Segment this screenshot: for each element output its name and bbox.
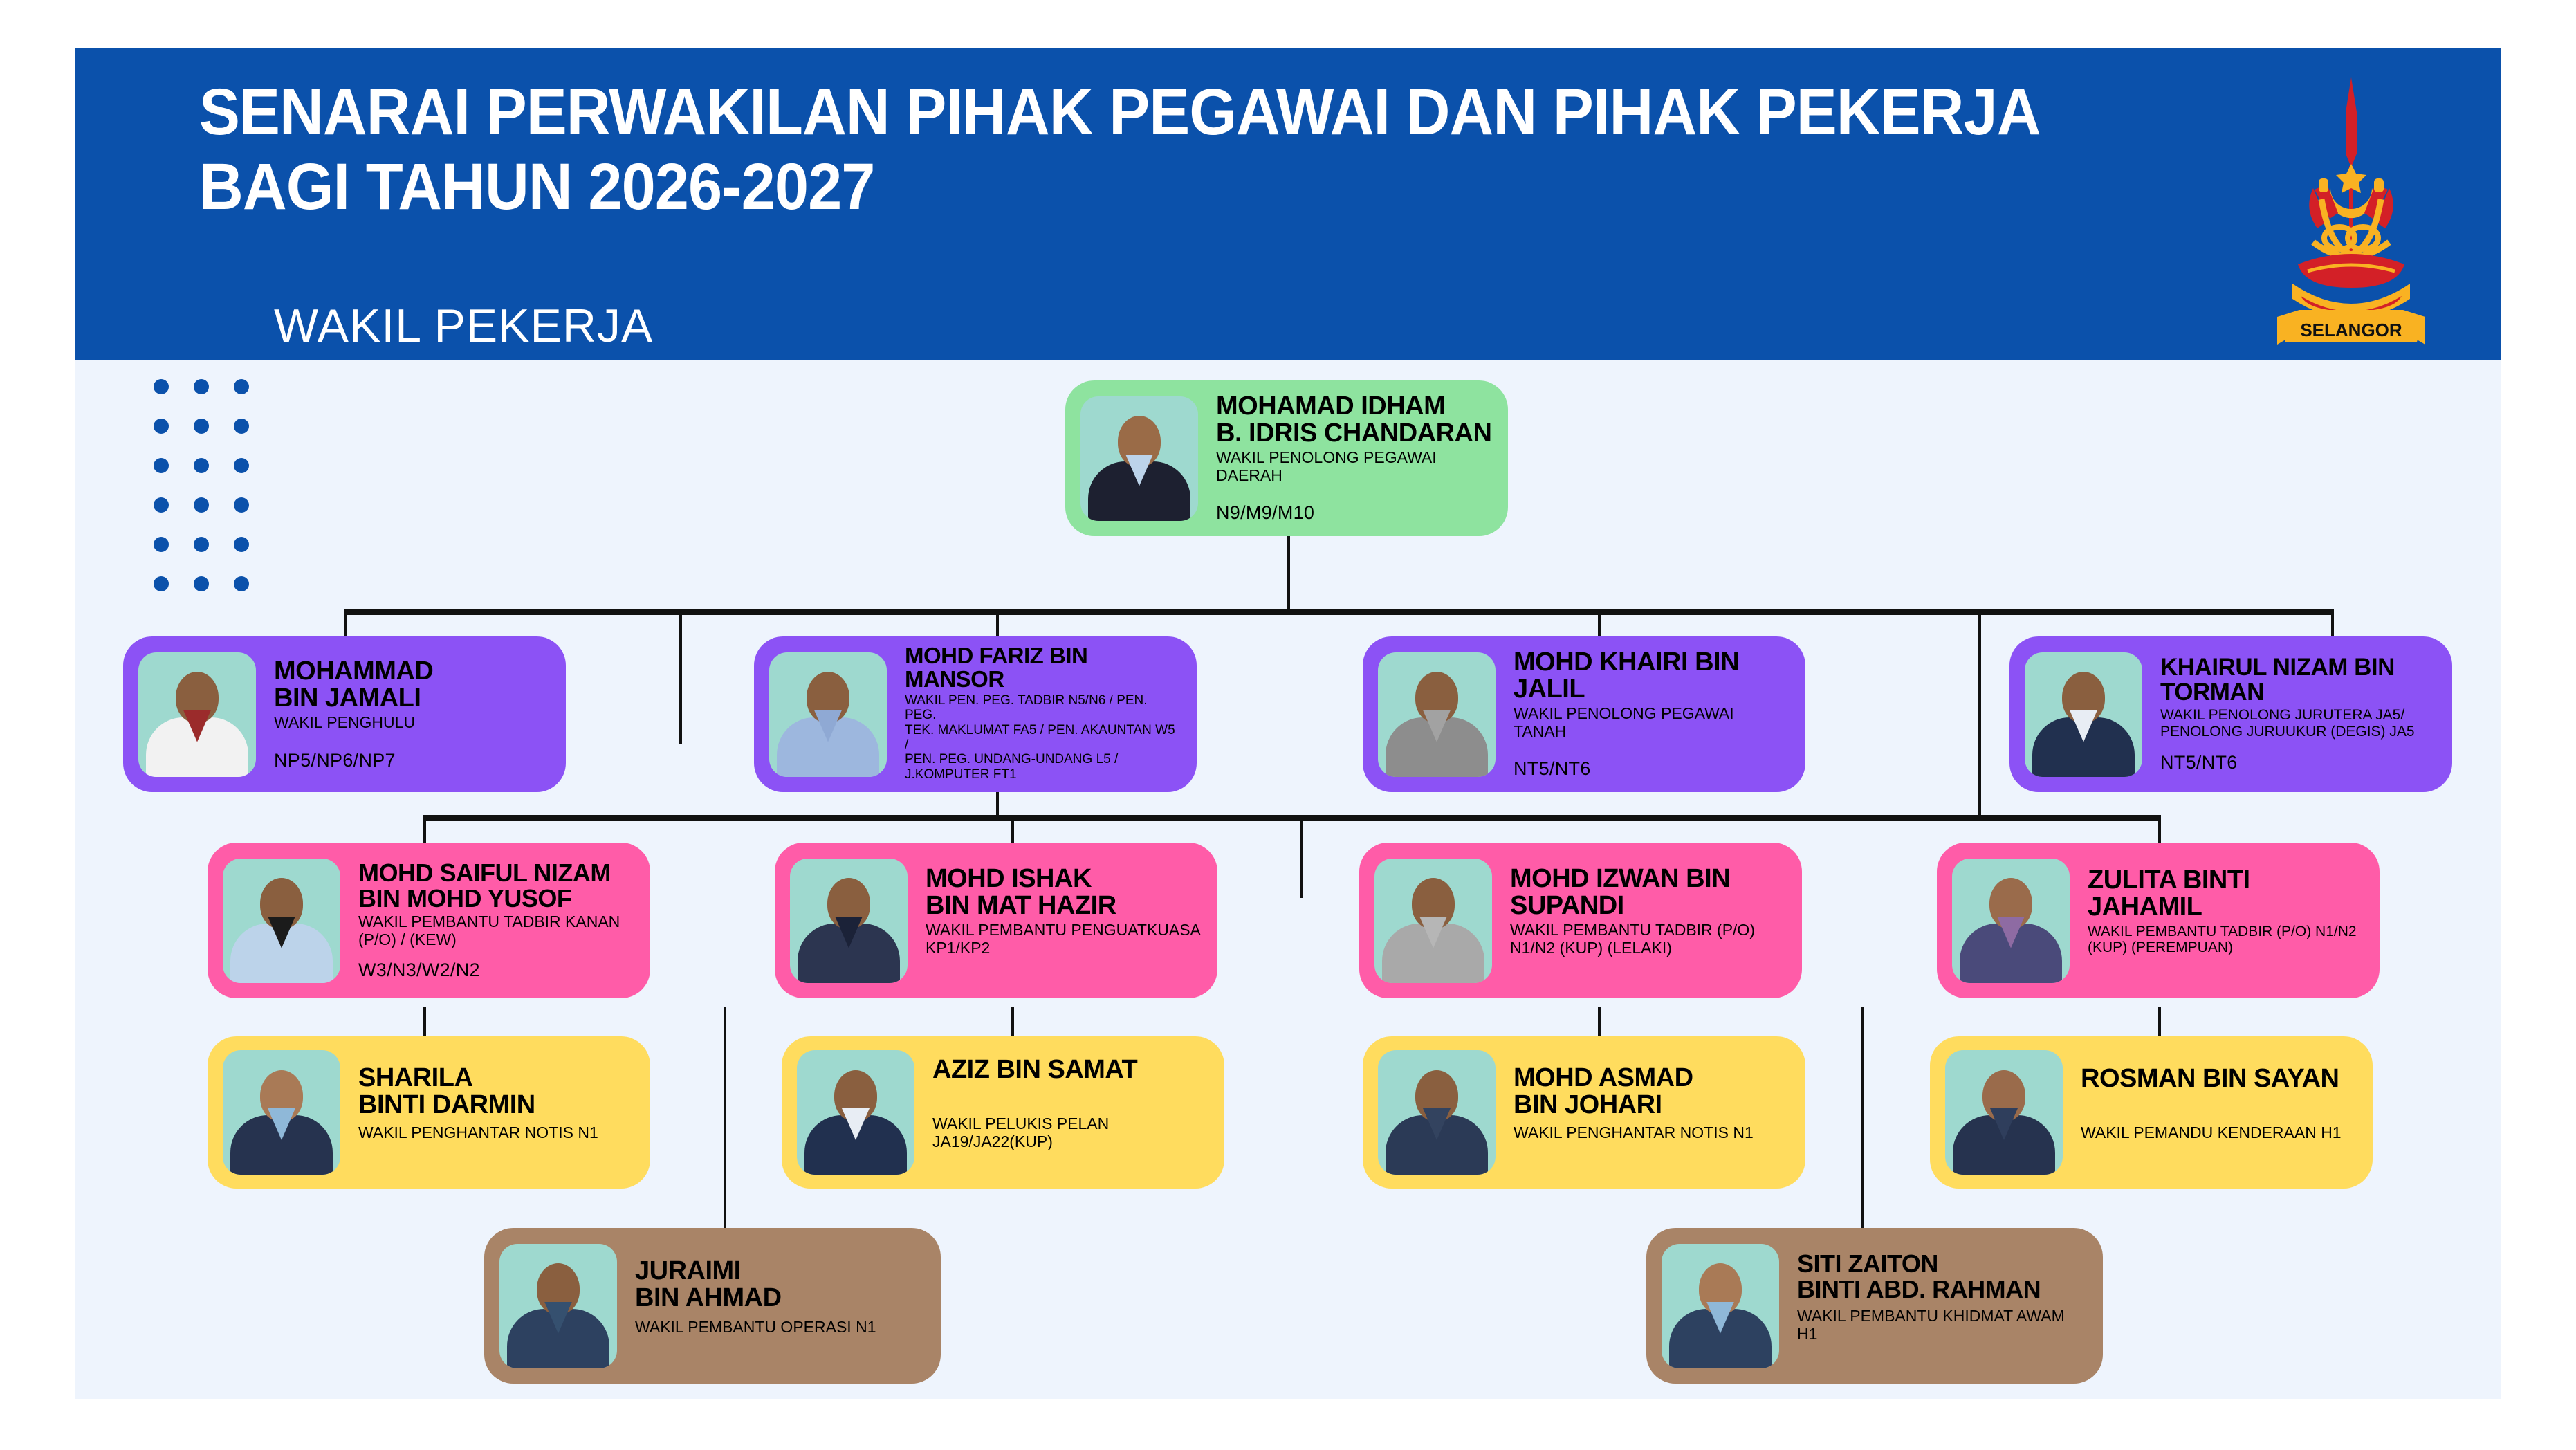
person-role: WAKIL PENOLONG JURUTERA JA5/ PENOLONG JU… [2160,707,2437,740]
person-name: MOHD ASMAD BIN JOHARI [1514,1065,1790,1119]
person-grade: W3/N3/W2/N2 [358,960,635,981]
node-card-y1[interactable]: SHARILA BINTI DARMIN WAKIL PENGHANTAR NO… [208,1036,650,1189]
person-grade: NT5/NT6 [1514,758,1790,780]
person-role: WAKIL PEMBANTU TADBIR (P/O) N1/N2 (KUP) … [1510,921,1787,957]
connector-drop-k3 [1300,815,1303,898]
person-role: WAKIL PENOLONG PEGAWAI TANAH [1514,705,1790,741]
node-card-p3[interactable]: MOHD KHAIRI BIN JALIL WAKIL PENOLONG PEG… [1363,636,1805,792]
node-card-k3[interactable]: MOHD IZWAN BIN SUPANDI WAKIL PEMBANTU TA… [1359,843,1802,998]
person-name: MOHD SAIFUL NIZAM BIN MOHD YUSOF [358,860,635,911]
person-name: JURAIMI BIN AHMAD [635,1258,926,1312]
node-card-b1[interactable]: JURAIMI BIN AHMAD WAKIL PEMBANTU OPERASI… [484,1228,941,1384]
avatar [797,1050,914,1175]
connector-drop-b2 [1861,1007,1864,1228]
person-role: WAKIL PENGHANTAR NOTIS N1 [1514,1124,1790,1142]
person-role: WAKIL PENGHANTAR NOTIS N1 [358,1124,635,1142]
node-card-y4[interactable]: ROSMAN BIN SAYAN WAKIL PEMANDU KENDERAAN… [1930,1036,2373,1189]
person-name: MOHAMAD IDHAM B. IDRIS CHANDARAN [1216,393,1493,447]
person-name: ROSMAN BIN SAYAN [2081,1065,2357,1092]
node-card-b2[interactable]: SITI ZAITON BINTI ABD. RAHMAN WAKIL PEMB… [1646,1228,2103,1384]
person-grade: NP5/NP6/NP7 [274,750,551,771]
avatar [499,1244,617,1368]
avatar [1374,859,1492,983]
person-role: WAKIL PENOLONG PEGAWAI DAERAH [1216,449,1493,485]
person-role: WAKIL PEN. PEG. TADBIR N5/N6 / PEN. PEG.… [905,693,1181,782]
avatar [1080,396,1198,521]
node-card-root[interactable]: MOHAMAD IDHAM B. IDRIS CHANDARAN WAKIL P… [1065,380,1508,536]
avatar [1945,1050,2063,1175]
person-name: KHAIRUL NIZAM BIN TORMAN [2160,655,2437,705]
node-card-y2[interactable]: AZIZ BIN SAMAT WAKIL PELUKIS PELAN JA19/… [782,1036,1224,1189]
avatar [1378,652,1496,777]
node-card-y3[interactable]: MOHD ASMAD BIN JOHARI WAKIL PENGHANTAR N… [1363,1036,1805,1189]
crest-banner-label: SELANGOR [2300,320,2402,340]
person-grade: NT5/NT6 [2160,752,2437,773]
node-card-k1[interactable]: MOHD SAIFUL NIZAM BIN MOHD YUSOF WAKIL P… [208,843,650,998]
person-name: AZIZ BIN SAMAT [932,1056,1209,1083]
avatar [769,652,887,777]
selangor-crest-icon: SELANGOR [2265,64,2438,354]
person-name: ZULITA BINTI JAHAMIL [2088,867,2364,921]
connector-drop-p2 [679,609,682,744]
page-title: SENARAI PERWAKILAN PIHAK PEGAWAI DAN PIH… [199,75,2162,225]
person-role: WAKIL PEMBANTU OPERASI N1 [635,1319,926,1337]
avatar [1952,859,2070,983]
avatar [223,1050,340,1175]
avatar [1662,1244,1779,1368]
person-name: MOHD KHAIRI BIN JALIL [1514,649,1790,703]
header-banner: SENARAI PERWAKILAN PIHAK PEGAWAI DAN PIH… [75,48,2501,360]
person-role: WAKIL PENGHULU [274,714,551,732]
connector-drop-b1 [724,1007,726,1228]
node-card-k4[interactable]: ZULITA BINTI JAHAMIL WAKIL PEMBANTU TADB… [1937,843,2380,998]
header-subtitle: WAKIL PEKERJA [274,299,653,353]
person-name: SHARILA BINTI DARMIN [358,1065,635,1119]
node-card-p2[interactable]: MOHD FARIZ BIN MANSOR WAKIL PEN. PEG. TA… [754,636,1197,792]
person-name: MOHAMMAD BIN JAMALI [274,658,551,712]
node-card-k2[interactable]: MOHD ISHAK BIN MAT HAZIR WAKIL PEMBANTU … [775,843,1217,998]
person-role: WAKIL PEMANDU KENDERAAN H1 [2081,1124,2357,1142]
avatar [1378,1050,1496,1175]
person-role: WAKIL PELUKIS PELAN JA19/JA22(KUP) [932,1115,1209,1151]
avatar [138,652,256,777]
person-grade: N9/M9/M10 [1216,502,1493,524]
node-card-p1[interactable]: MOHAMMAD BIN JAMALI WAKIL PENGHULU NP5/N… [123,636,566,792]
connector-drop-p4 [1978,609,1981,816]
person-name: MOHD ISHAK BIN MAT HAZIR [926,865,1202,919]
avatar [2025,652,2142,777]
person-role: WAKIL PEMBANTU PENGUATKUASA KP1/KP2 [926,921,1202,957]
avatar [223,859,340,983]
avatar [790,859,908,983]
person-role: WAKIL PEMBANTU KHIDMAT AWAM H1 [1797,1307,2088,1343]
connector-bus-pink [423,815,2158,821]
person-role: WAKIL PEMBANTU TADBIR KANAN (P/O) / (KEW… [358,913,635,949]
connector-bus-purple [344,609,2331,615]
person-role: WAKIL PEMBANTU TADBIR (P/O) N1/N2 (KUP) … [2088,924,2364,956]
person-name: SITI ZAITON BINTI ABD. RAHMAN [1797,1251,2088,1302]
org-chart-poster: SENARAI PERWAKILAN PIHAK PEGAWAI DAN PIH… [0,0,2576,1450]
connector-root-stem [1287,536,1290,612]
node-card-p4[interactable]: KHAIRUL NIZAM BIN TORMAN WAKIL PENOLONG … [2009,636,2452,792]
person-name: MOHD FARIZ BIN MANSOR [905,644,1181,691]
person-name: MOHD IZWAN BIN SUPANDI [1510,865,1787,919]
